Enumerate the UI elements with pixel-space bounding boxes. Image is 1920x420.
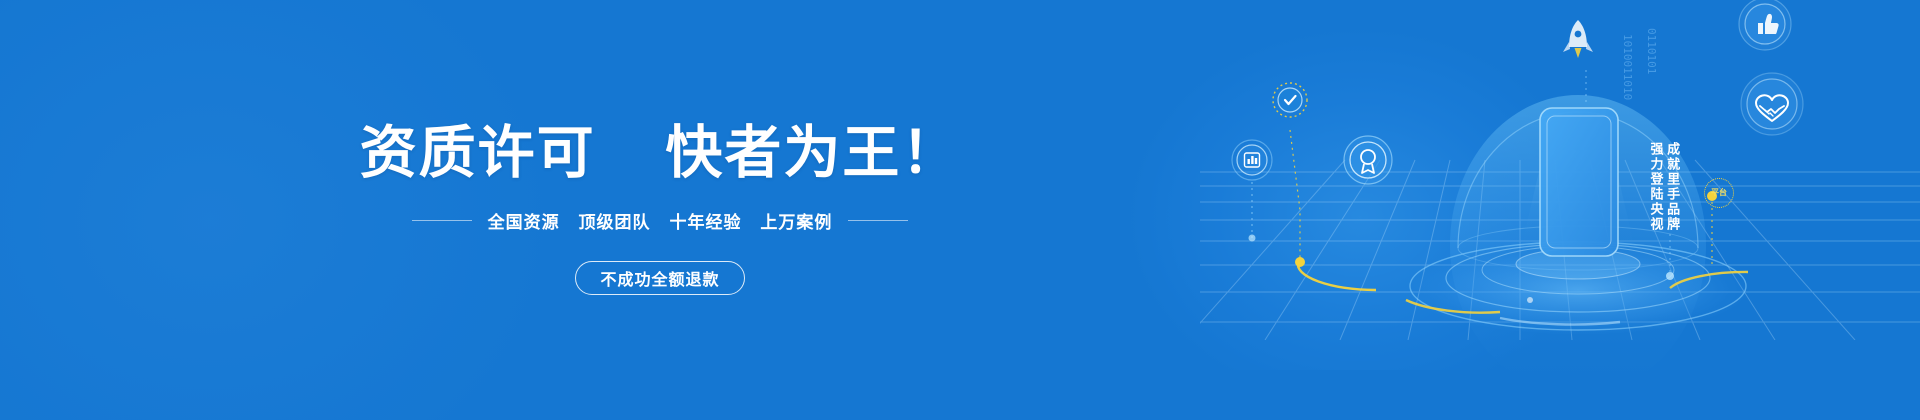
divider-left: [412, 220, 472, 221]
platform-badge: 平台: [1704, 178, 1734, 208]
subtitle: 全国资源 顶级团队 十年经验 上万案例: [488, 208, 833, 233]
divider-right: [848, 220, 908, 221]
svg-text:1010011010: 1010011010: [1621, 34, 1634, 100]
subtitle-item-0: 全国资源: [488, 213, 560, 233]
promo-banner: 1010011010 0110101: [0, 0, 1920, 420]
refund-guarantee-button[interactable]: 不成功全额退款: [575, 261, 744, 295]
subtitle-item-1: 顶级团队: [579, 213, 651, 233]
svg-text:0110101: 0110101: [1645, 28, 1658, 74]
hero-illustration: 1010011010 0110101: [1200, 0, 1920, 420]
page-title: 资质许可 快者为王！: [360, 125, 961, 182]
tablet-slogan-right: 成就里手品牌: [1665, 142, 1679, 262]
subtitle-row: 全国资源 顶级团队 十年经验 上万案例: [412, 208, 909, 233]
handshake-heart-icon: [1741, 73, 1803, 135]
subtitle-item-2: 十年经验: [669, 213, 741, 233]
tablet-slogan-left: 强力登陆央视: [1648, 142, 1662, 262]
award-icon: [1344, 136, 1392, 184]
tablet-slogan: 成就里手品牌 强力登陆央视: [1633, 142, 1693, 262]
binary-digits: 1010011010 0110101: [1621, 28, 1658, 100]
banner-copy: 资质许可 快者为王！ 全国资源 顶级团队 十年经验 上万案例 不成功全额退款: [0, 0, 1080, 420]
rocket-icon: [1563, 20, 1593, 58]
thumbs-up-icon: [1739, 0, 1791, 50]
chart-icon: [1232, 140, 1272, 180]
tablet-device: [1540, 108, 1618, 256]
subtitle-item-3: 上万案例: [760, 213, 832, 233]
check-icon: [1273, 83, 1307, 117]
headline-part-2: 快者为王！: [665, 120, 960, 186]
headline-part-1: 资质许可: [360, 120, 596, 186]
